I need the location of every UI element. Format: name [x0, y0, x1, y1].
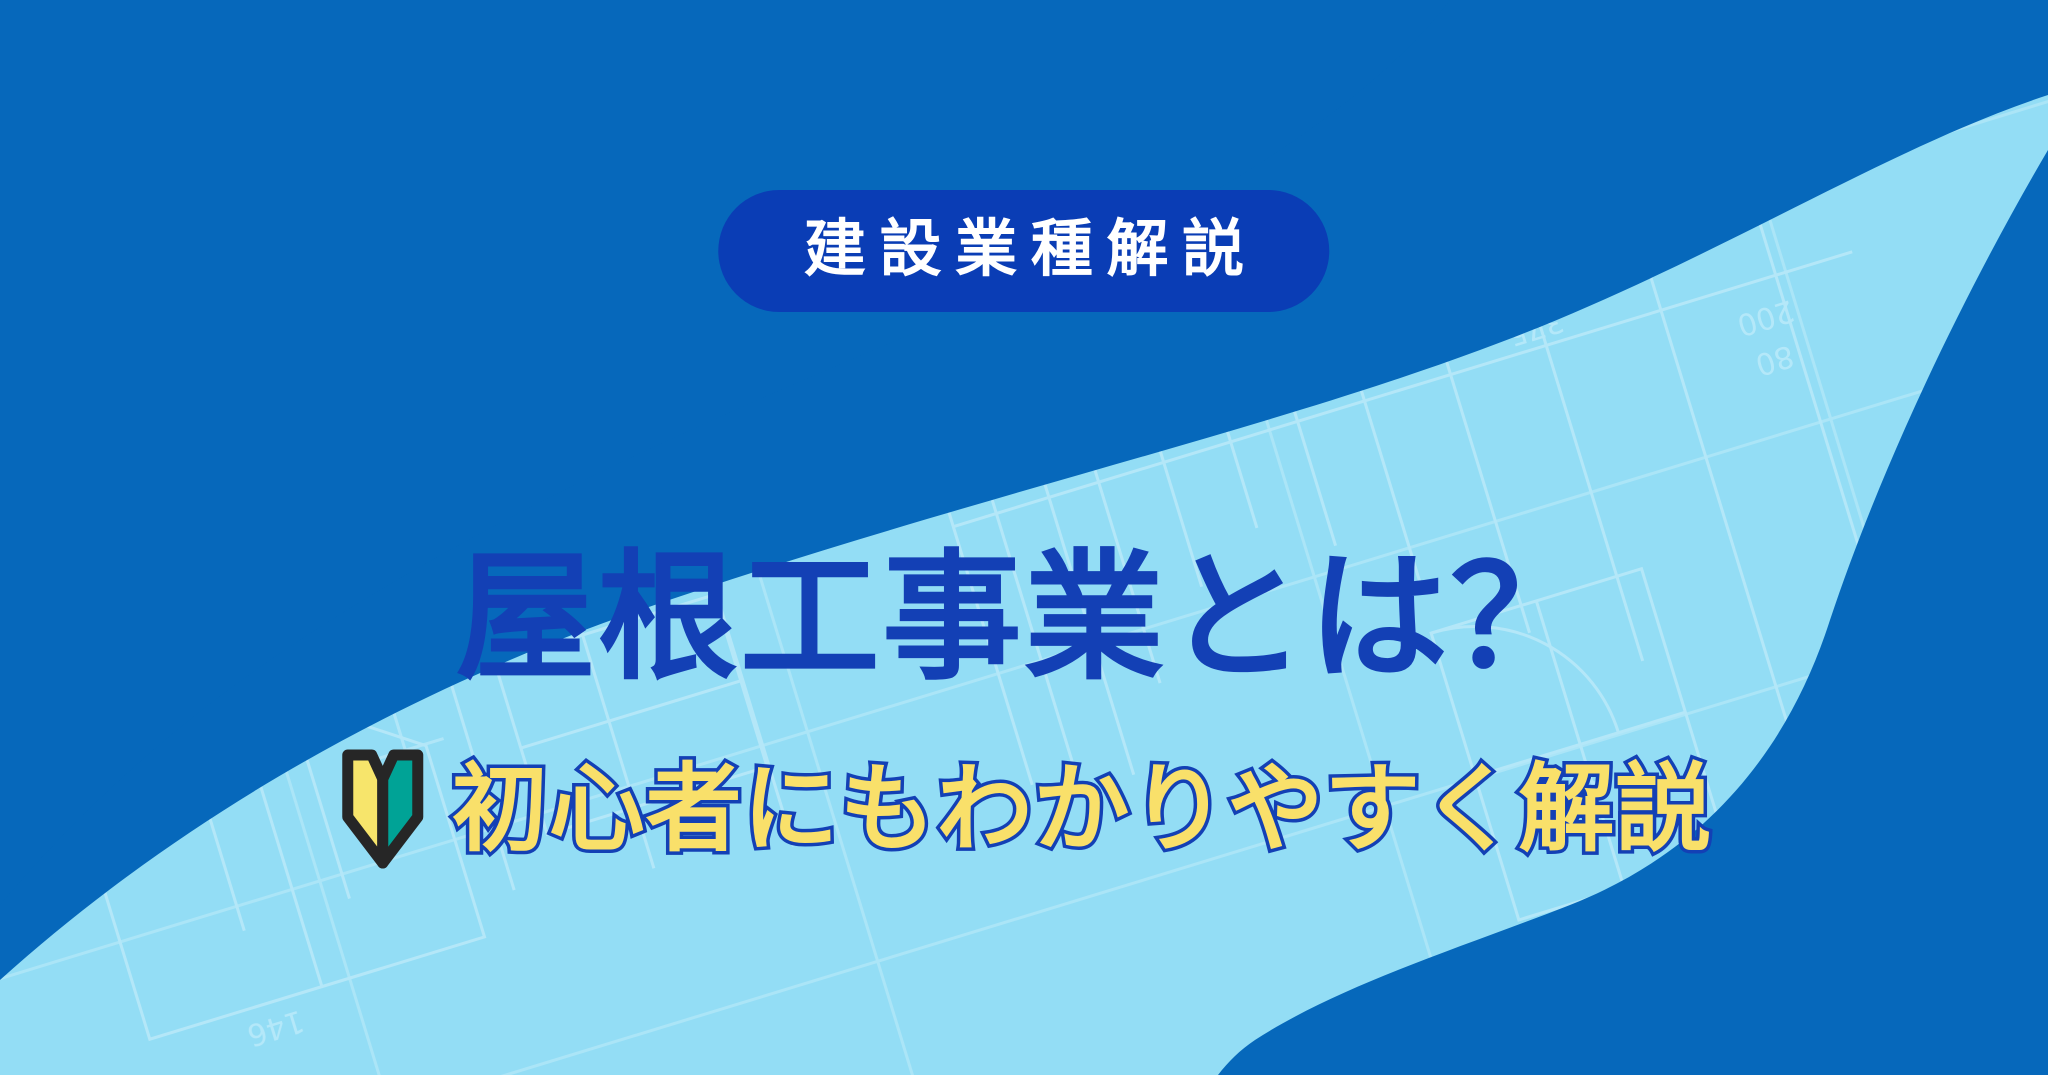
category-badge[interactable]: 建設業種解説: [718, 190, 1329, 312]
hero-banner: 320,205 140 2/05 375 200 80 2/02 146 28 …: [0, 0, 2048, 1075]
page-title: 屋根工事業とは？: [456, 529, 1593, 708]
hero-content: 建設業種解説 屋根工事業とは？ 初心者にもわかりやすく解説: [0, 0, 2048, 1075]
subtitle-row: 初心者にもわかりやすく解説: [336, 745, 1712, 873]
subtitle-text: 初心者にもわかりやすく解説: [452, 754, 1712, 864]
category-badge-label: 建設業種解説: [790, 218, 1257, 280]
wakaba-beginner-mark-icon: [336, 745, 430, 873]
